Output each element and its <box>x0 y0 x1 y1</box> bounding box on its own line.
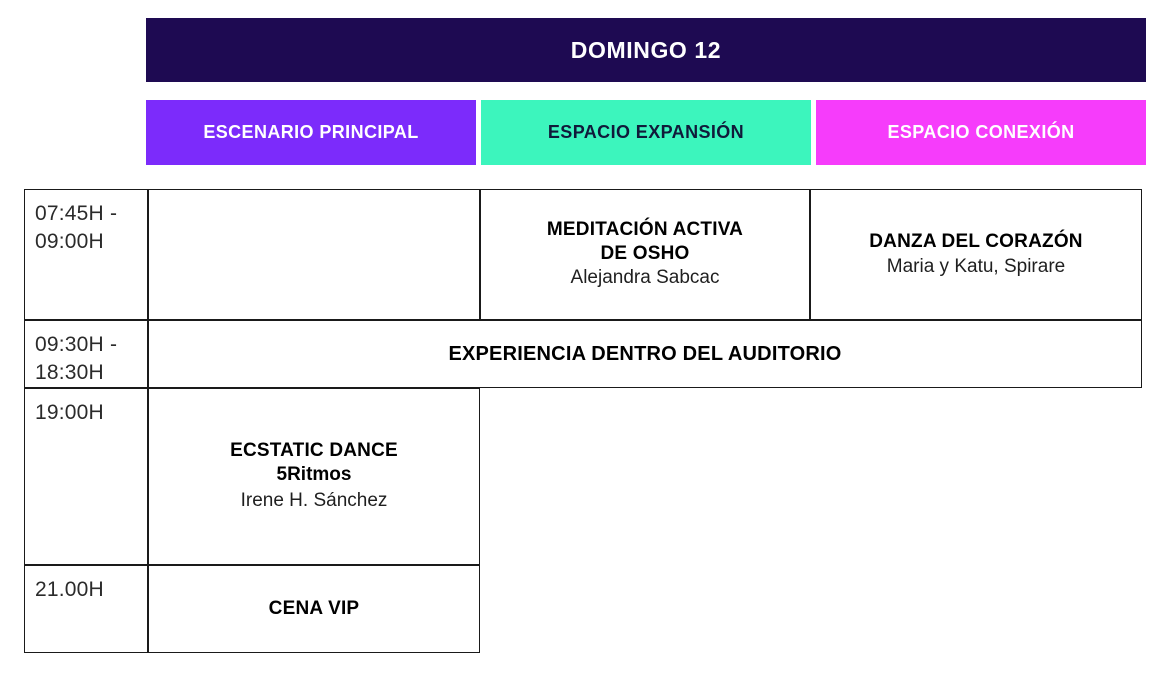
time-line1-row-4: 21.00H <box>35 576 104 604</box>
time-text-row-3: 19:00H <box>35 399 104 427</box>
time-cell-row-2: 09:30H - 18:30H <box>24 320 148 388</box>
venue-label-espacio-conexion: ESPACIO CONEXIÓN <box>887 122 1074 143</box>
venue-header-escenario-principal[interactable]: ESCENARIO PRINCIPAL <box>146 100 476 165</box>
venue-header-espacio-expansion[interactable]: ESPACIO EXPANSIÓN <box>481 100 811 165</box>
venue-header-espacio-conexion[interactable]: ESPACIO CONEXIÓN <box>816 100 1146 165</box>
event-presenter-expansion-row-1: Alejandra Sabcac <box>571 266 720 291</box>
day-banner: DOMINGO 12 <box>146 18 1146 82</box>
event-title-principal-row-4: CENA VIP <box>269 597 360 621</box>
day-banner-label: DOMINGO 12 <box>571 37 721 64</box>
time-line2-row-1: 09:00H <box>35 228 117 256</box>
venue-header-row: ESCENARIO PRINCIPAL ESPACIO EXPANSIÓN ES… <box>146 100 1146 165</box>
event-cell-principal-row-1[interactable] <box>148 189 480 320</box>
event-cell-conexion-row-1[interactable]: DANZA DEL CORAZÓN Maria y Katu, Spirare <box>810 189 1142 320</box>
schedule-container: DOMINGO 12 ESCENARIO PRINCIPAL ESPACIO E… <box>0 0 1166 674</box>
time-line2-row-2: 18:30H <box>35 359 117 387</box>
event-subtitle-principal-row-3: 5Ritmos <box>277 463 352 488</box>
time-cell-row-3: 19:00H <box>24 388 148 565</box>
time-text-row-4: 21.00H <box>35 576 104 604</box>
time-line1-row-2: 09:30H - <box>35 331 117 359</box>
time-cell-row-4: 21.00H <box>24 565 148 653</box>
event-title-line1-expansion-row-1: MEDITACIÓN ACTIVA <box>547 218 743 242</box>
time-line1-row-3: 19:00H <box>35 399 104 427</box>
event-title-conexion-row-1: DANZA DEL CORAZÓN <box>869 230 1082 254</box>
event-presenter-conexion-row-1: Maria y Katu, Spirare <box>887 255 1065 280</box>
event-cell-expansion-row-1[interactable]: MEDITACIÓN ACTIVA DE OSHO Alejandra Sabc… <box>480 189 810 320</box>
event-cell-principal-row-4[interactable]: CENA VIP <box>148 565 480 653</box>
time-text-row-1: 07:45H - 09:00H <box>35 200 117 257</box>
time-text-row-2: 09:30H - 18:30H <box>35 331 117 388</box>
event-title-principal-row-3: ECSTATIC DANCE <box>230 439 398 463</box>
schedule-grid: 07:45H - 09:00H MEDITACIÓN ACTIVA DE OSH… <box>24 189 1142 653</box>
event-title-line2-expansion-row-1: DE OSHO <box>600 242 689 266</box>
event-cell-principal-row-3[interactable]: ECSTATIC DANCE 5Ritmos Irene H. Sánchez <box>148 388 480 565</box>
time-line1-row-1: 07:45H - <box>35 200 117 228</box>
event-presenter-principal-row-3: Irene H. Sánchez <box>241 489 388 514</box>
time-cell-row-1: 07:45H - 09:00H <box>24 189 148 320</box>
venue-label-escenario-principal: ESCENARIO PRINCIPAL <box>203 122 418 143</box>
event-title-auditorio-row-2: EXPERIENCIA DENTRO DEL AUDITORIO <box>448 342 841 367</box>
event-cell-auditorio-row-2[interactable]: EXPERIENCIA DENTRO DEL AUDITORIO <box>148 320 1142 388</box>
venue-label-espacio-expansion: ESPACIO EXPANSIÓN <box>548 122 744 143</box>
